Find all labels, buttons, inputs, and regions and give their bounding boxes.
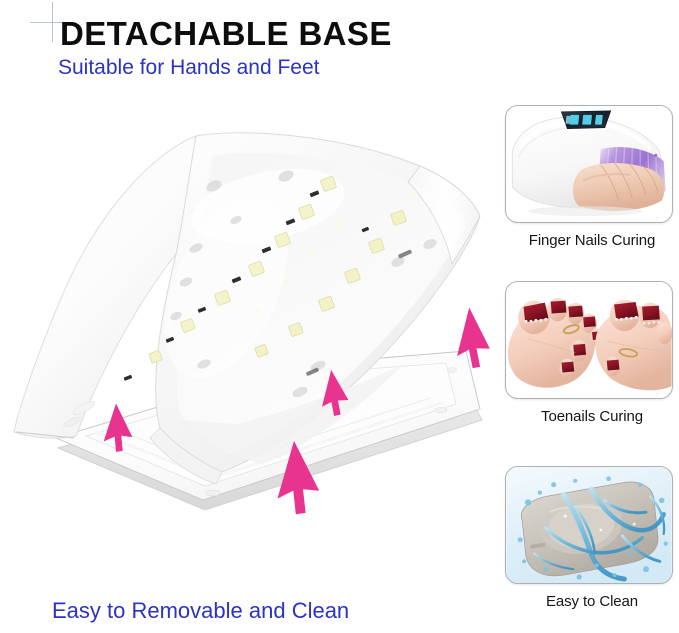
crosshair-vertical-line — [52, 2, 53, 42]
lamp-with-hand-illustration — [506, 106, 672, 222]
panel-caption: Finger Nails Curing — [505, 232, 679, 249]
page-title: DETACHABLE BASE — [60, 15, 392, 53]
toenails-illustration — [506, 282, 672, 398]
footer-caption: Easy to Removable and Clean — [52, 598, 349, 624]
page-subtitle: Suitable for Hands and Feet — [58, 56, 320, 80]
panel-caption: Easy to Clean — [505, 593, 679, 610]
panel-finger-nails-curing[interactable]: Finger Nails Curing — [505, 105, 679, 249]
panel-image-frame — [505, 105, 673, 223]
panel-caption: Toenails Curing — [505, 408, 679, 425]
panel-toenails-curing[interactable]: Toenails Curing — [505, 281, 679, 425]
water-splash-base-illustration — [506, 467, 672, 583]
panel-easy-to-clean[interactable]: Easy to Clean — [505, 466, 679, 610]
panel-image-frame — [505, 281, 673, 399]
product-illustration — [0, 120, 505, 520]
lcd-display — [561, 111, 610, 129]
panel-image-frame — [505, 466, 673, 584]
feature-panel-column: Finger Nails Curing — [505, 105, 679, 633]
